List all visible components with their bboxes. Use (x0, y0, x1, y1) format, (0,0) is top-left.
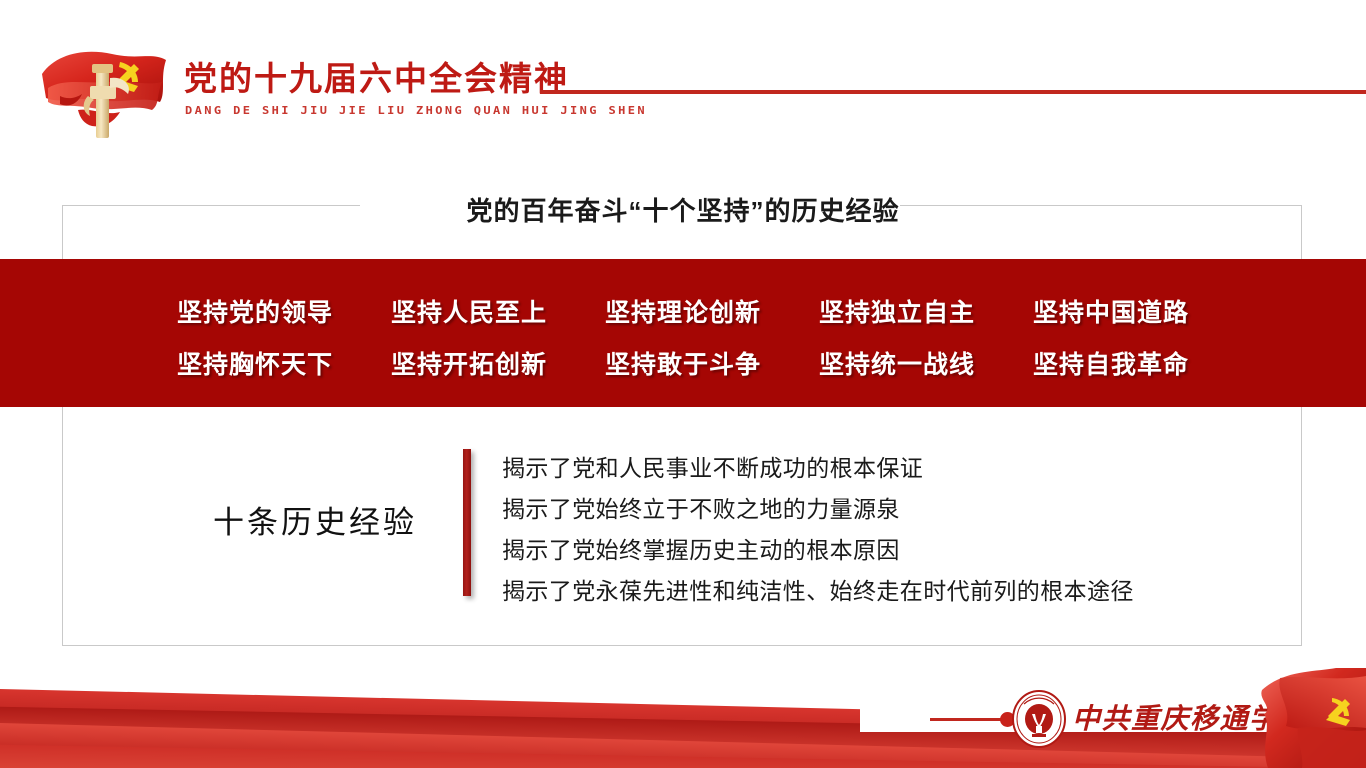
section-title: 党的百年奋斗“十个坚持”的历史经验 (0, 191, 1366, 228)
list-item: 揭示了党和人民事业不断成功的根本保证 (502, 448, 1262, 489)
experience-list: 揭示了党和人民事业不断成功的根本保证 揭示了党始终立于不败之地的力量源泉 揭示了… (502, 448, 1262, 612)
keyword-item[interactable]: 坚持中国道路 (1004, 293, 1218, 329)
keywords-row-1: 坚持党的领导 坚持人民至上 坚持理论创新 坚持独立自主 坚持中国道路 (0, 293, 1366, 329)
red-accent-bar (463, 449, 471, 596)
keyword-item[interactable]: 坚持理论创新 (576, 293, 790, 329)
list-item: 揭示了党始终立于不败之地的力量源泉 (502, 489, 1262, 530)
keyword-item[interactable]: 坚持开拓创新 (362, 345, 576, 381)
party-flag-icon (34, 38, 176, 140)
party-emblem-flag-icon (1258, 668, 1366, 768)
keyword-item[interactable]: 坚持人民至上 (362, 293, 576, 329)
keyword-item[interactable]: 坚持党的领导 (148, 293, 362, 329)
keywords-row-2: 坚持胸怀天下 坚持开拓创新 坚持敢于斗争 坚持统一战线 坚持自我革命 (0, 345, 1366, 381)
header-divider-rule (540, 90, 1366, 94)
page-title: 党的十九届六中全会精神 (184, 52, 569, 100)
list-item: 揭示了党永葆先进性和纯洁性、始终走在时代前列的根本途径 (502, 571, 1262, 612)
list-item: 揭示了党始终掌握历史主动的根本原因 (502, 530, 1262, 571)
keyword-item[interactable]: 坚持胸怀天下 (148, 345, 362, 381)
keywords-band: 坚持党的领导 坚持人民至上 坚持理论创新 坚持独立自主 坚持中国道路 坚持胸怀天… (0, 259, 1366, 407)
slide-canvas: 党的十九届六中全会精神 DANG DE SHI JIU JIE LIU ZHON… (0, 0, 1366, 768)
experience-label: 十条历史经验 (175, 497, 455, 542)
page-title-pinyin: DANG DE SHI JIU JIE LIU ZHONG QUAN HUI J… (185, 104, 647, 117)
footer-lead-line (930, 718, 1008, 721)
keyword-item[interactable]: 坚持敢于斗争 (576, 345, 790, 381)
keyword-item[interactable]: 坚持独立自主 (790, 293, 1004, 329)
keyword-item[interactable]: 坚持自我革命 (1004, 345, 1218, 381)
university-seal-icon (1010, 690, 1068, 748)
keyword-item[interactable]: 坚持统一战线 (790, 345, 1004, 381)
